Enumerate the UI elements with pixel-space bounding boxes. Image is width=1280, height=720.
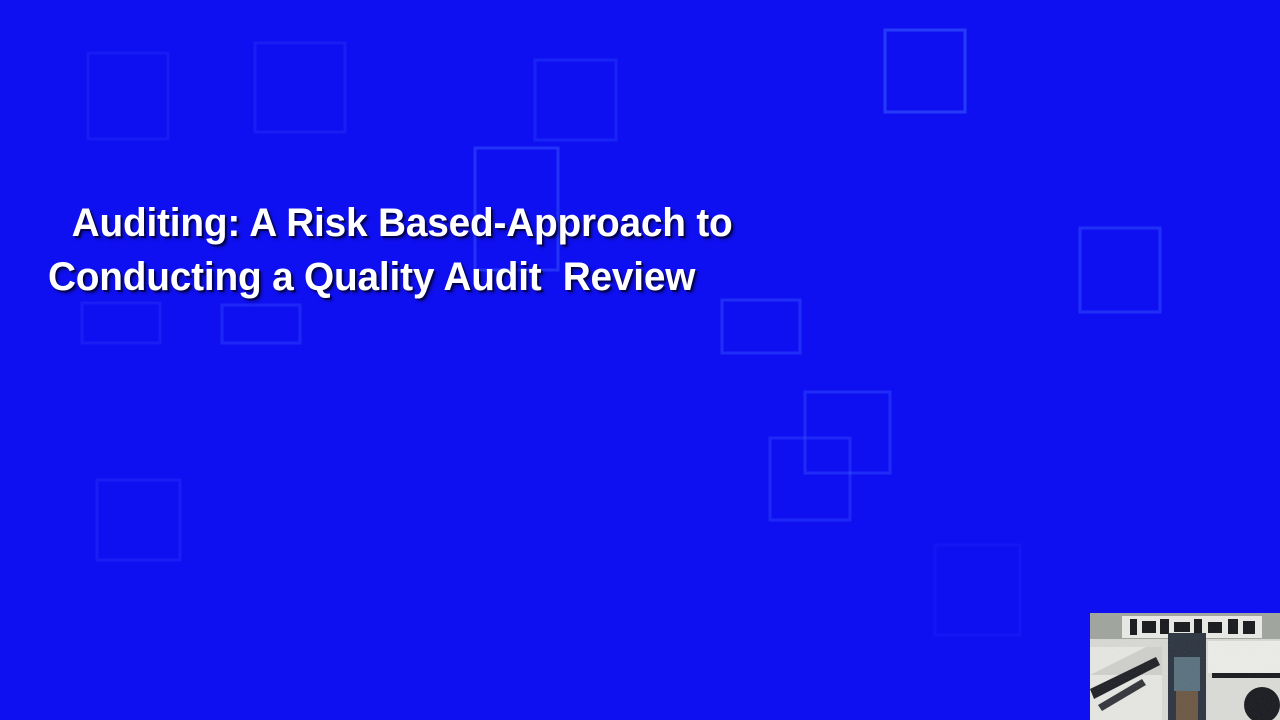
video-thumbnail-slide: Auditing: A Risk Based-Approach to Condu… [0,0,1280,720]
decorative-square [88,53,168,139]
decorative-square [255,43,345,132]
decorative-square [885,30,965,112]
title-line-2: Conducting a Quality Audit Review [46,250,919,304]
decorative-square [222,305,300,343]
decorative-square [770,438,850,520]
decorative-square [535,60,616,140]
book-cover-thumbnail [1090,613,1280,720]
title-line-1: Auditing: A Risk Based-Approach to [46,196,919,250]
decorative-square [935,545,1020,635]
decorative-squares-layer [0,0,1280,720]
slide-title: Auditing: A Risk Based-Approach to Condu… [46,196,946,304]
decorative-square [97,480,180,560]
decorative-square [1080,228,1160,312]
decorative-square [805,392,890,473]
decorative-square [722,300,800,353]
decorative-square [82,303,160,343]
